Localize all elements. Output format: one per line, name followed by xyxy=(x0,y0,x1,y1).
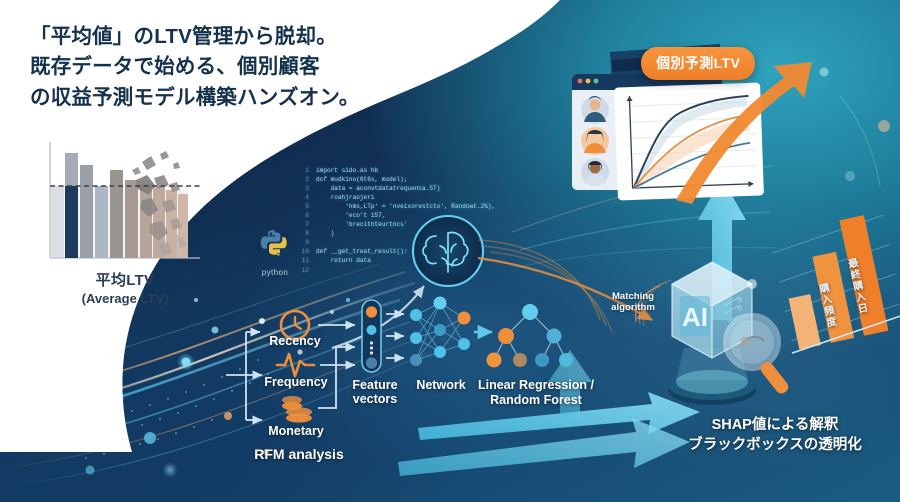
model-line-1: Linear Regression / xyxy=(466,378,606,393)
average-ltv-chart: 平均LTV (Average LTV) xyxy=(30,140,220,306)
pipeline-label-rfm: RFM analysis xyxy=(246,446,352,462)
code-line: 4 roahjraojeri xyxy=(296,193,528,202)
python-logo-caption: python xyxy=(258,268,292,277)
code-line-number: 2 xyxy=(296,175,309,184)
decision-tree-icon xyxy=(487,304,574,368)
code-line-text: def __get_treat_result(): xyxy=(316,248,407,255)
infographic-canvas: 「平均値」のLTV管理から脱却。 既存データで始める、個別顧客 の収益予測モデル… xyxy=(0,0,900,502)
average-ltv-bars xyxy=(30,140,220,260)
matching-line-1: Matching xyxy=(597,291,669,302)
code-line-text: dcf mudkino(6t6s, model); xyxy=(316,176,407,183)
pipeline-label-frequency: Frequency xyxy=(250,375,342,389)
code-line: 7 'brecithteurtncs' xyxy=(296,220,528,229)
code-line-number: 1 xyxy=(296,166,309,175)
shap-caption-line-1: SHAP値による解釈 xyxy=(660,415,890,435)
pipeline-label-matching-algorithm: Matching algorithm xyxy=(597,291,669,313)
code-line-number: 8 xyxy=(296,229,309,238)
code-snippet: 1import sido.as hb2dcf mudkino(6t6s, mod… xyxy=(296,166,528,275)
feature-vectors-line-2: vectors xyxy=(340,392,410,406)
code-line: 12 xyxy=(296,266,528,275)
code-line: 6 'eco't 157, xyxy=(296,211,528,220)
code-line-text: 'eco't 157, xyxy=(316,212,385,219)
code-line-text: data = aconvtdatatrequenca.5T) xyxy=(316,185,440,192)
avatar xyxy=(581,127,609,155)
monetary-coins-icon xyxy=(282,396,312,423)
code-line-text: ) xyxy=(316,230,334,237)
status-badge: 個別予測LTV xyxy=(641,47,755,80)
python-icon xyxy=(258,228,292,262)
code-line: 2dcf mudkino(6t6s, model); xyxy=(296,175,528,184)
avatar xyxy=(581,96,609,124)
code-line-number: 10 xyxy=(296,247,309,256)
code-line-number: 5 xyxy=(296,202,309,211)
feature-vectors-line-1: Feature xyxy=(340,378,410,392)
headline-line-3: の収益予測モデル構築ハンズオン。 xyxy=(30,83,500,113)
feature-vector-capsule xyxy=(362,300,381,372)
headline-line-1: 「平均値」のLTV管理から脱却。 xyxy=(30,22,500,52)
code-line-text: 'hms,LTp' = 'nveixorestcto', Randowt.2%)… xyxy=(316,203,495,210)
code-line: 8 ) xyxy=(296,229,528,238)
matching-line-2: algorithm xyxy=(597,302,669,313)
ai-cube-label: AI xyxy=(682,302,708,332)
code-line-text: return data xyxy=(316,257,371,264)
code-line-number: 11 xyxy=(296,256,309,265)
pipeline-label-monetary: Monetary xyxy=(252,424,340,438)
code-line-number: 4 xyxy=(296,193,309,202)
code-line: 11 return data xyxy=(296,256,528,265)
page-title: 「平均値」のLTV管理から脱却。 既存データで始める、個別顧客 の収益予測モデル… xyxy=(30,22,500,113)
average-ltv-caption: 平均LTV (Average LTV) xyxy=(30,269,220,306)
pipeline-label-feature-vectors: Feature vectors xyxy=(340,378,410,406)
frequency-pulse-icon xyxy=(277,354,314,376)
pipeline-label-model: Linear Regression / Random Forest xyxy=(466,378,606,407)
code-line-text: import sido.as hb xyxy=(316,167,378,174)
shap-bar-chart xyxy=(767,211,900,353)
average-ltv-label-jp: 平均LTV xyxy=(30,269,220,290)
code-line-number: 7 xyxy=(296,220,309,229)
code-line: 10def __get_treat_result(): xyxy=(296,247,528,256)
model-line-2: Random Forest xyxy=(466,393,606,408)
shap-caption: SHAP値による解釈 ブラックボックスの透明化 xyxy=(660,415,890,455)
code-line-number: 12 xyxy=(296,266,309,275)
shap-caption-line-2: ブラックボックスの透明化 xyxy=(660,435,890,455)
python-logo: python xyxy=(258,228,292,277)
code-line-text: roahjraojeri xyxy=(316,194,375,201)
code-line: 3 data = aconvtdatatrequenca.5T) xyxy=(296,184,528,193)
code-line: 5 'hms,LTp' = 'nveixorestcto', Randowt.2… xyxy=(296,202,528,211)
code-line-number: 3 xyxy=(296,184,309,193)
average-ltv-label-en: (Average LTV) xyxy=(30,291,220,306)
code-line-number: 9 xyxy=(296,238,309,247)
code-line-text: 'brecithteurtncs' xyxy=(316,221,407,228)
avatar xyxy=(581,158,609,186)
neural-network-icon xyxy=(410,297,471,367)
code-line-number: 6 xyxy=(296,211,309,220)
pipeline-label-recency: Recency xyxy=(256,334,334,348)
code-line: 9 xyxy=(296,238,528,247)
code-line: 1import sido.as hb xyxy=(296,166,528,175)
headline-line-2: 既存データで始める、個別顧客 xyxy=(30,52,500,82)
